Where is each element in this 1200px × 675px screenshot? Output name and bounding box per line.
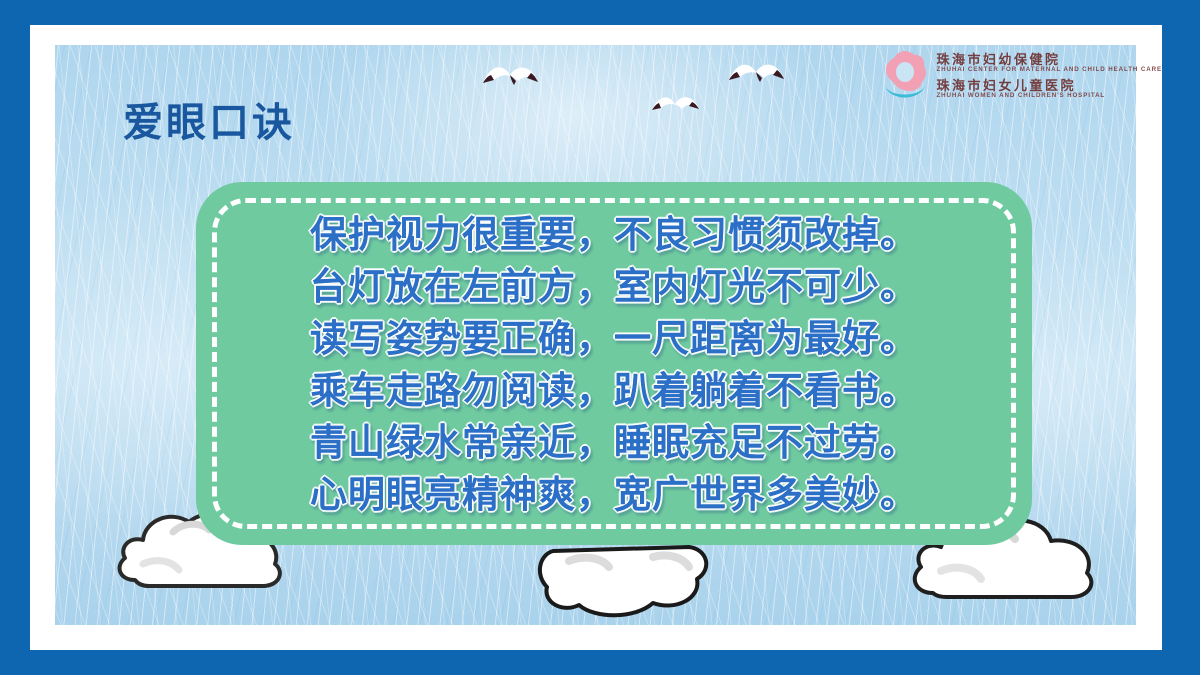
- hospital-logo: 珠海市妇幼保健院 ZHUHAI CENTER FOR MATERNAL AND …: [879, 48, 1163, 104]
- logo-line1-en: ZHUHAI CENTER FOR MATERNAL AND CHILD HEA…: [937, 67, 1163, 74]
- slide-canvas: 爱眼口诀 珠海市妇幼保健院 ZHUHAI CENTER FOR MATERNAL…: [0, 0, 1200, 675]
- seagull-icon: [480, 60, 562, 94]
- page-title: 爱眼口诀: [123, 90, 295, 148]
- logo-line2-en: ZHUHAI WOMEN AND CHILDREN'S HOSPITAL: [937, 93, 1163, 100]
- hospital-logo-text: 珠海市妇幼保健院 ZHUHAI CENTER FOR MATERNAL AND …: [937, 53, 1163, 99]
- verse-list: 保护视力很重要，不良习惯须改掉。 台灯放在左前方，室内灯光不可少。 读写姿势要正…: [196, 210, 1032, 520]
- verse-line: 读写姿势要正确，一尺距离为最好。: [310, 314, 918, 364]
- hospital-logo-icon: [879, 48, 931, 104]
- seagull-icon: [649, 91, 715, 119]
- cloud-icon: [535, 541, 745, 621]
- verse-line: 青山绿水常亲近，睡眠充足不过劳。: [310, 418, 918, 468]
- seagull-icon: [726, 58, 806, 92]
- verse-line: 乘车走路勿阅读，趴着躺着不看书。: [310, 366, 918, 416]
- verse-card: 保护视力很重要，不良习惯须改掉。 台灯放在左前方，室内灯光不可少。 读写姿势要正…: [196, 182, 1032, 545]
- logo-line2-cn: 珠海市妇女儿童医院: [937, 79, 1163, 93]
- logo-line1-cn: 珠海市妇幼保健院: [937, 53, 1163, 67]
- verse-line: 保护视力很重要，不良习惯须改掉。: [310, 210, 918, 260]
- verse-line: 台灯放在左前方，室内灯光不可少。: [310, 262, 918, 312]
- verse-line: 心明眼亮精神爽，宽广世界多美妙。: [310, 470, 918, 520]
